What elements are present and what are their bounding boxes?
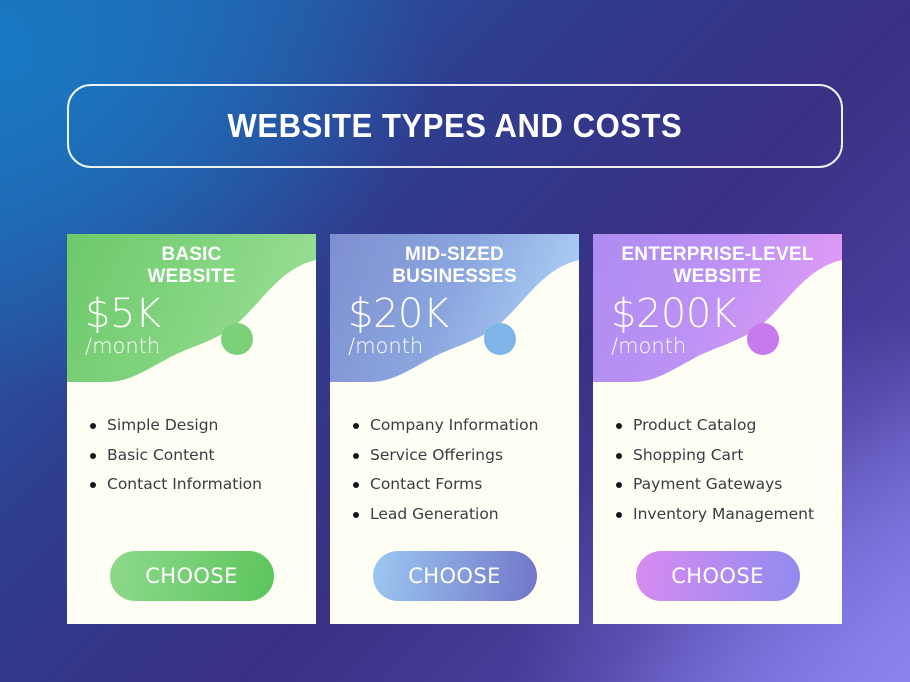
choose-button-mid-sized[interactable]: CHOOSE — [373, 551, 537, 601]
list-item: Product Catalog — [615, 418, 834, 434]
pricing-card-enterprise: ENTERPRISE-LEVEL WEBSITE $200K /month Pr… — [593, 234, 842, 624]
card-header-basic: BASIC WEBSITE $5K /month — [67, 234, 316, 382]
list-item: Inventory Management — [615, 507, 834, 523]
title-box: WEBSITE TYPES AND COSTS — [67, 84, 843, 168]
list-item: Company Information — [352, 418, 571, 434]
pricing-card-mid-sized: MID-SIZED BUSINESSES $20K /month Company… — [330, 234, 579, 624]
feature-list-mid-sized: Company Information Service Offerings Co… — [330, 382, 579, 551]
card-header-mid-sized: MID-SIZED BUSINESSES $20K /month — [330, 234, 579, 382]
list-item: Contact Information — [89, 477, 308, 493]
pricing-card-row: BASIC WEBSITE $5K /month Simple Design B… — [67, 234, 843, 624]
choose-button-basic[interactable]: CHOOSE — [110, 551, 274, 601]
cta-row-enterprise: CHOOSE — [593, 551, 842, 624]
pricing-poster: WEBSITE TYPES AND COSTS BASIC — [0, 0, 910, 682]
feature-list-basic: Simple Design Basic Content Contact Info… — [67, 382, 316, 551]
accent-dot-icon — [67, 234, 316, 382]
list-item: Lead Generation — [352, 507, 571, 523]
list-item: Contact Forms — [352, 477, 571, 493]
pricing-card-basic: BASIC WEBSITE $5K /month Simple Design B… — [67, 234, 316, 624]
list-item: Shopping Cart — [615, 448, 834, 464]
list-item: Service Offerings — [352, 448, 571, 464]
cta-row-mid-sized: CHOOSE — [330, 551, 579, 624]
page-title: WEBSITE TYPES AND COSTS — [228, 107, 683, 145]
cta-row-basic: CHOOSE — [67, 551, 316, 624]
list-item: Simple Design — [89, 418, 308, 434]
choose-button-enterprise[interactable]: CHOOSE — [636, 551, 800, 601]
accent-dot-icon — [593, 234, 842, 382]
card-header-enterprise: ENTERPRISE-LEVEL WEBSITE $200K /month — [593, 234, 842, 382]
feature-list-enterprise: Product Catalog Shopping Cart Payment Ga… — [593, 382, 842, 551]
list-item: Payment Gateways — [615, 477, 834, 493]
list-item: Basic Content — [89, 448, 308, 464]
accent-dot-icon — [330, 234, 579, 382]
